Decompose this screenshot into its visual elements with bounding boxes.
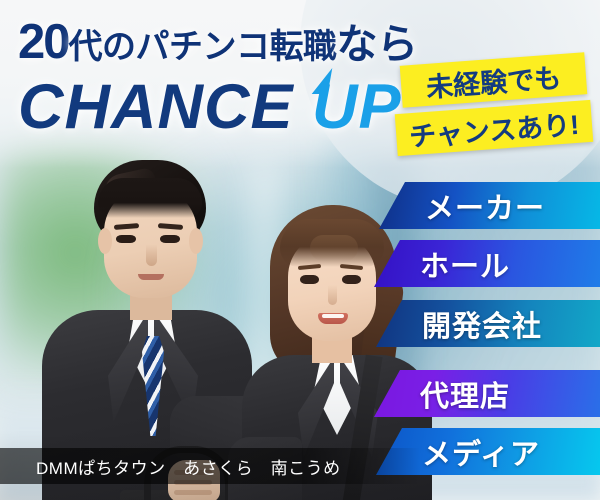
man-nose bbox=[146, 244, 157, 266]
woman-mouth bbox=[318, 313, 348, 324]
category-label: 代理店 bbox=[420, 373, 510, 415]
category-bar-hall[interactable]: ホール bbox=[374, 240, 600, 287]
badge-label: 未経験でも bbox=[425, 56, 562, 105]
chance-up-logo: CHANCE UP bbox=[18, 70, 402, 144]
headline-line-1: 20代のパチンコ転職なら bbox=[18, 18, 478, 71]
category-bar-agency[interactable]: 代理店 bbox=[374, 370, 600, 417]
caption-text: DMMぱちタウン あさくら 南こうめ bbox=[36, 454, 341, 479]
logo-up-text: UP bbox=[312, 70, 402, 144]
category-bar-maker[interactable]: メーカー bbox=[379, 182, 600, 229]
man-ear-right bbox=[189, 228, 203, 254]
man-mouth bbox=[138, 274, 164, 280]
category-label: ホール bbox=[420, 243, 510, 285]
woman-eye-right bbox=[342, 275, 361, 284]
man-ear-left bbox=[98, 228, 112, 254]
headline-number: 20 bbox=[18, 15, 69, 69]
category-bar-development-company[interactable]: 開発会社 bbox=[376, 300, 600, 347]
category-label: メーカー bbox=[425, 185, 545, 227]
headline: 20代のパチンコ転職なら bbox=[18, 18, 478, 71]
headline-suffix: 代のパチンコ転職 bbox=[69, 28, 337, 66]
woman-fringe bbox=[280, 219, 384, 267]
headline-tail: なら bbox=[337, 21, 418, 67]
category-label: メディア bbox=[422, 431, 540, 473]
man-fringe bbox=[98, 178, 202, 218]
woman-nose bbox=[328, 285, 337, 305]
promo-banner: 20代のパチンコ転職なら CHANCE UP 未経験でも チャンスあり! メーカ… bbox=[0, 0, 600, 500]
man-eye-right bbox=[160, 235, 180, 243]
logo-chance-text: CHANCE bbox=[18, 72, 294, 142]
caption-strip: DMMぱちタウン あさくら 南こうめ bbox=[0, 448, 420, 484]
man-eye-left bbox=[116, 235, 136, 243]
woman-eye-left bbox=[300, 275, 319, 284]
category-label: 開発会社 bbox=[422, 303, 542, 345]
